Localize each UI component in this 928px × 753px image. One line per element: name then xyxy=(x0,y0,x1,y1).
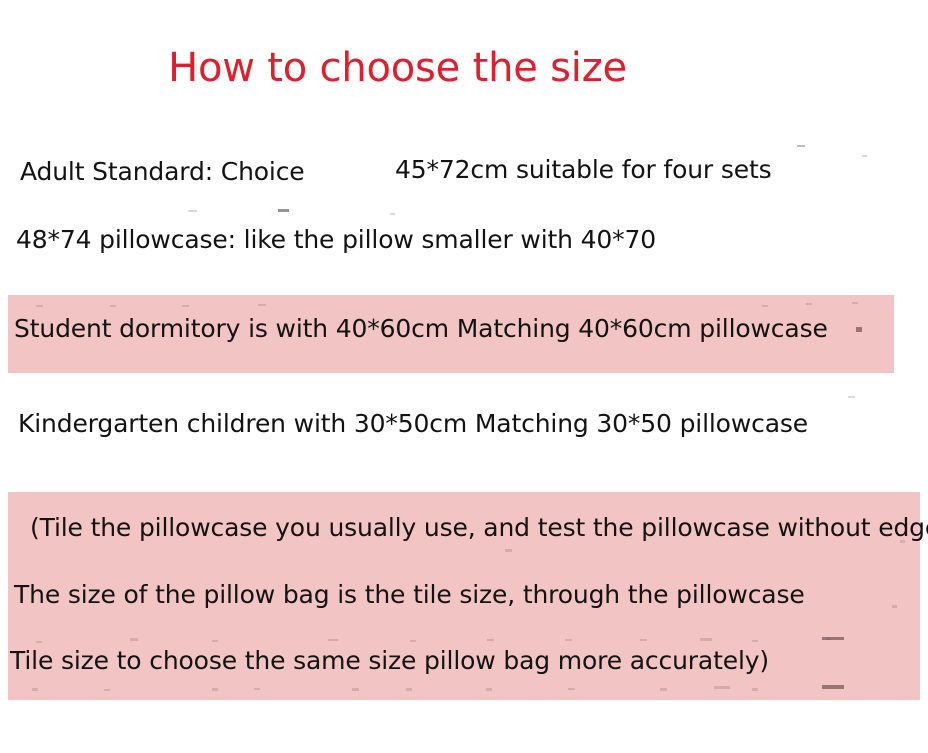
scan-artifact xyxy=(278,209,289,212)
pillowcase-48-74-line: 48*74 pillowcase: like the pillow smalle… xyxy=(16,223,656,257)
page-title: How to choose the size xyxy=(0,44,795,92)
scan-artifact xyxy=(188,210,197,212)
adult-standard-value: 45*72cm suitable for four sets xyxy=(395,153,771,187)
student-dormitory-line: Student dormitory is with 40*60cm Matchi… xyxy=(14,312,828,346)
measuring-note-line-2: The size of the pillow bag is the tile s… xyxy=(14,578,805,612)
adult-standard-label: Adult Standard: Choice xyxy=(20,155,305,189)
scan-artifact xyxy=(848,396,855,398)
size-guide-page: How to choose the size Adult Standard: C… xyxy=(0,0,928,753)
measuring-note-line-1: (Tile the pillowcase you usually use, an… xyxy=(30,511,928,545)
scan-artifact xyxy=(390,213,395,215)
kindergarten-line: Kindergarten children with 30*50cm Match… xyxy=(18,407,808,441)
scan-artifact xyxy=(862,155,867,157)
measuring-note-line-3: Tile size to choose the same size pillow… xyxy=(10,644,769,678)
scan-artifact xyxy=(797,145,805,147)
